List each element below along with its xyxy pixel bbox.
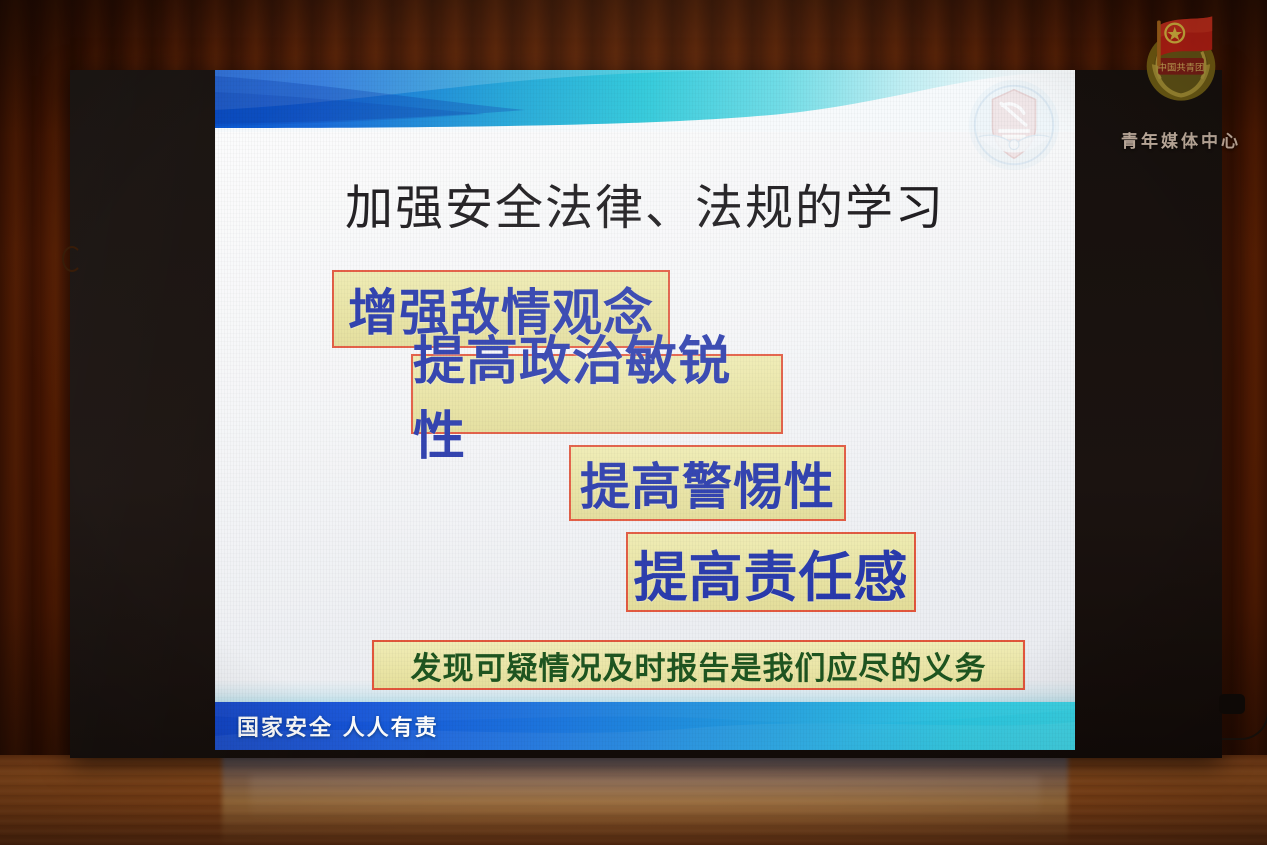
watermark-label: 青年媒体中心 — [1101, 127, 1261, 152]
curtain-hook — [62, 246, 82, 272]
slide-footer-text: 国家安全 人人有责 — [237, 710, 439, 742]
slide-note-box: 发现可疑情况及时报告是我们应尽的义务 — [372, 640, 1025, 690]
communist-youth-league-emblem: 中国共青团 — [1129, 6, 1233, 110]
svg-text:中国共青团: 中国共青团 — [1158, 61, 1205, 73]
broadcast-watermark: 中国共青团 青年媒体中心 — [1101, 4, 1261, 156]
presentation-slide: 加强安全法律、法规的学习 增强敌情观念 提高政治敏锐性 提高警惕性 提高责任感 … — [215, 70, 1075, 750]
slide-title: 加强安全法律、法规的学习 — [215, 168, 1075, 238]
slide-header-wave-decoration — [215, 70, 1075, 132]
police-badge-emblem — [965, 76, 1063, 174]
floor-specular-highlight — [250, 775, 1040, 841]
highlight-box-2: 提高政治敏锐性 — [411, 354, 783, 434]
highlight-box-4: 提高责任感 — [626, 532, 916, 612]
highlight-box-3: 提高警惕性 — [569, 445, 846, 521]
photo-stage-scene: 加强安全法律、法规的学习 增强敌情观念 提高政治敏锐性 提高警惕性 提高责任感 … — [0, 0, 1267, 845]
slide-footer-band: 国家安全 人人有责 — [215, 702, 1075, 750]
stage-equipment-box — [1219, 694, 1245, 714]
